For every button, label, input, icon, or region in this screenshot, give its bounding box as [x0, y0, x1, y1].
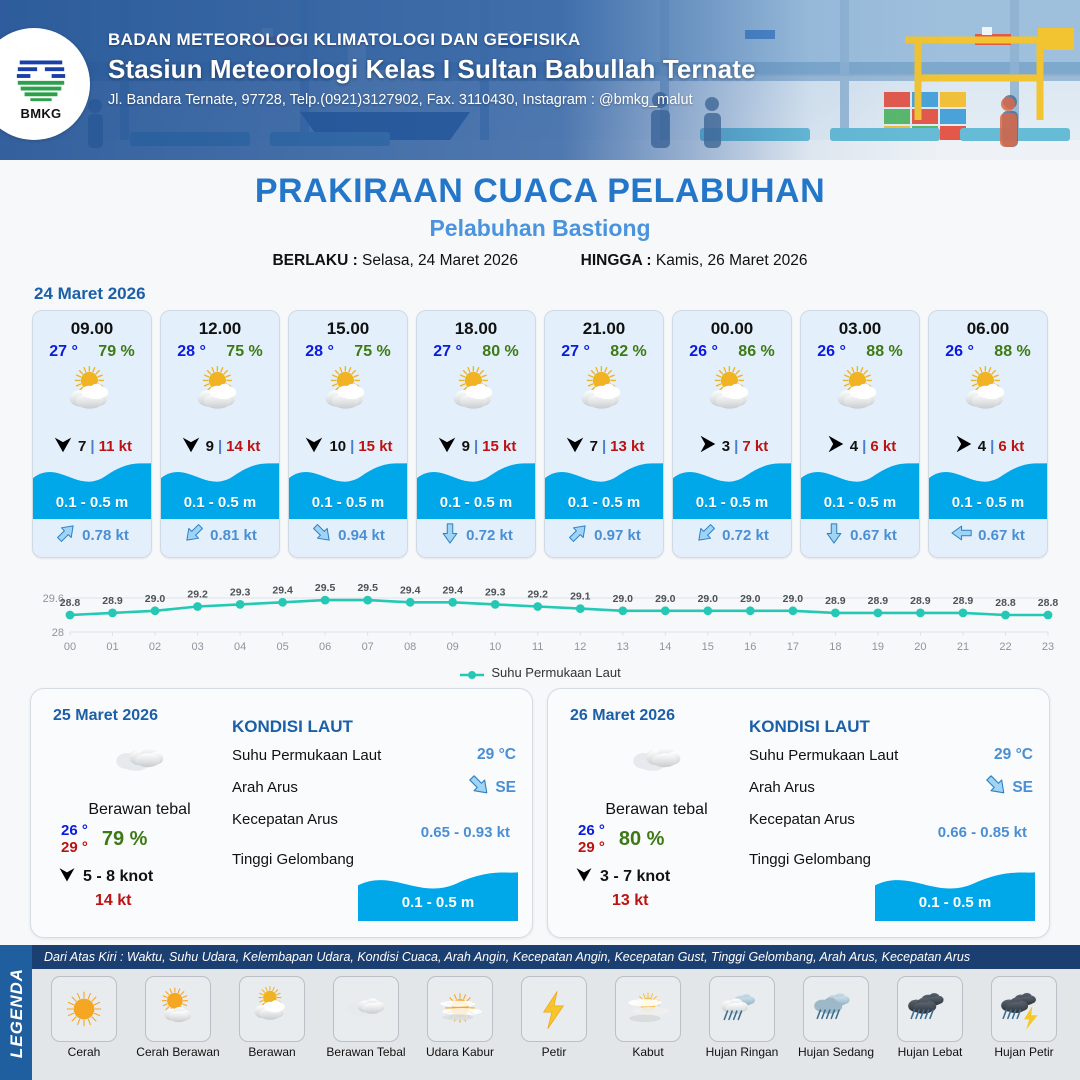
- legend-vertical-title: LEGENDA: [2, 945, 32, 1080]
- legend-item: Berawan Tebal: [322, 976, 410, 1059]
- forecast-card: 21.00 27 ° 82 % 7 |: [544, 310, 664, 558]
- forecast-card: 00.00 26 ° 86 % 3 |: [672, 310, 792, 558]
- sea-wave-row: Tinggi Gelombang: [749, 851, 1033, 868]
- sst-chart-svg: 29.62828.80028.90129.00229.20329.30429.4…: [22, 568, 1058, 663]
- sea-sst-row: Suhu Permukaan Laut 29 °C: [749, 746, 1033, 764]
- card-current: 0.67 kt: [929, 522, 1047, 549]
- svg-text:20: 20: [914, 641, 926, 653]
- card-wind-separator: |: [350, 438, 354, 455]
- card-weather-icon: [929, 364, 1047, 426]
- card-wind-speed: 4: [978, 438, 986, 455]
- legend-item: Cerah Berawan: [134, 976, 222, 1059]
- card-temp-humidity: 27 ° 80 %: [417, 343, 535, 361]
- card-humidity: 79 %: [98, 343, 134, 361]
- svg-text:07: 07: [362, 641, 374, 653]
- legend-icon-hujan-ringan-icon: [709, 976, 775, 1042]
- card-current-speed: 0.81 kt: [210, 527, 257, 544]
- sea-current-dir-row: Arah Arus SE: [749, 773, 1033, 802]
- daily-humidity: 80 %: [619, 828, 665, 851]
- legend-item: Cerah: [40, 976, 128, 1059]
- current-speed-value: 0.65 - 0.93 kt: [421, 824, 510, 841]
- card-time: 15.00: [289, 319, 407, 339]
- sea-conditions-heading: KONDISI LAUT: [232, 717, 516, 737]
- wave-height-label: Tinggi Gelombang: [749, 851, 871, 868]
- card-wind-speed: 9: [206, 438, 214, 455]
- daily-wave-graphic: 0.1 - 0.5 m: [358, 867, 518, 921]
- sst-value: 29 °C: [477, 746, 516, 764]
- svg-text:28.8: 28.8: [1038, 597, 1058, 609]
- forecast-card: 09.00 27 ° 79 % 7 |: [32, 310, 152, 558]
- sea-current-dir-row: Arah Arus SE: [232, 773, 516, 802]
- forecast-card: 12.00 28 ° 75 % 9 |: [160, 310, 280, 558]
- legend-item-label: Cerah: [68, 1045, 101, 1059]
- svg-text:03: 03: [191, 641, 203, 653]
- title-section: PRAKIRAAN CUACA PELABUHAN Pelabuhan Bast…: [0, 160, 1080, 270]
- current-direction-label: Arah Arus: [232, 779, 298, 796]
- svg-text:29.4: 29.4: [442, 584, 463, 596]
- svg-text:29.5: 29.5: [315, 582, 336, 594]
- daily-sea-column: KONDISI LAUT Suhu Permukaan Laut 29 °C A…: [743, 689, 1049, 937]
- svg-text:29.0: 29.0: [655, 593, 676, 605]
- card-wind-separator: |: [734, 438, 738, 455]
- legend-icon-cerah-berawan-icon: [145, 976, 211, 1042]
- current-speed-label: Kecepatan Arus: [232, 811, 338, 828]
- card-weather-icon: [161, 364, 279, 426]
- daily-wind-range: 3 - 7 knot: [600, 868, 670, 886]
- wind-direction-arrow-icon: [180, 433, 202, 460]
- svg-text:29.5: 29.5: [357, 582, 378, 594]
- card-weather-icon: [417, 364, 535, 426]
- station-contact: Jl. Bandara Ternate, 97728, Telp.(0921)3…: [108, 92, 756, 108]
- daily-temp-min: 26 °: [578, 822, 605, 839]
- card-current: 0.94 kt: [289, 522, 407, 549]
- wind-direction-arrow-icon: [52, 433, 74, 460]
- legend-icon-hujan-petir-icon: [991, 976, 1057, 1042]
- card-current-speed: 0.72 kt: [466, 527, 513, 544]
- svg-text:29.2: 29.2: [187, 589, 208, 601]
- card-wind: 4 | 6 kt: [929, 433, 1047, 459]
- wind-direction-arrow-icon: [952, 433, 974, 460]
- card-time: 12.00: [161, 319, 279, 339]
- svg-text:13: 13: [617, 641, 629, 653]
- card-wind-speed: 3: [722, 438, 730, 455]
- svg-text:29.0: 29.0: [698, 593, 719, 605]
- card-humidity: 75 %: [226, 343, 262, 361]
- legend-item: Udara Kabur: [416, 976, 504, 1059]
- svg-text:28.8: 28.8: [60, 597, 81, 609]
- card-wave-height: 0.1 - 0.5 m: [33, 494, 151, 511]
- card-wind-separator: |: [90, 438, 94, 455]
- daily-date: 25 Maret 2026: [53, 707, 226, 725]
- daily-weather-icon: [53, 731, 226, 791]
- card-wave-height: 0.1 - 0.5 m: [929, 494, 1047, 511]
- legend-item: Hujan Sedang: [792, 976, 880, 1059]
- card-current: 0.67 kt: [801, 522, 919, 549]
- card-current-speed: 0.67 kt: [978, 527, 1025, 544]
- valid-from-value: Selasa, 24 Maret 2026: [362, 252, 518, 269]
- wind-direction-arrow-icon: [564, 433, 586, 460]
- sst-chart: 29.62828.80028.90129.00229.20329.30429.4…: [22, 568, 1058, 663]
- svg-text:29.2: 29.2: [527, 589, 548, 601]
- legend-icon-hujan-sedang-icon: [803, 976, 869, 1042]
- legend-icon-udara-kabur-icon: [427, 976, 493, 1042]
- daily-date: 26 Maret 2026: [570, 707, 743, 725]
- daily-wave-value: 0.1 - 0.5 m: [875, 894, 1035, 911]
- legend-item: Berawan: [228, 976, 316, 1059]
- forecast-card: 18.00 27 ° 80 % 9 |: [416, 310, 536, 558]
- card-time: 21.00: [545, 319, 663, 339]
- daily-weather-icon: [570, 731, 743, 791]
- svg-text:29.3: 29.3: [485, 586, 506, 598]
- wind-direction-arrow-icon: [824, 433, 846, 460]
- svg-text:00: 00: [64, 641, 76, 653]
- current-direction-arrow-icon: [567, 522, 589, 549]
- svg-text:29.0: 29.0: [145, 593, 166, 605]
- svg-text:14: 14: [659, 641, 671, 653]
- card-gust-speed: 15 kt: [358, 438, 392, 455]
- daily-gust: 13 kt: [570, 892, 743, 910]
- daily-condition: Berawan tebal: [570, 801, 743, 819]
- sst-legend-marker: [459, 668, 485, 678]
- card-gust-speed: 13 kt: [610, 438, 644, 455]
- svg-text:11: 11: [532, 641, 543, 653]
- card-wind-speed: 10: [329, 438, 346, 455]
- forecast-card: 06.00 26 ° 88 % 4 |: [928, 310, 1048, 558]
- svg-text:12: 12: [574, 641, 586, 653]
- card-temperature: 28 °: [305, 343, 334, 361]
- card-humidity: 88 %: [994, 343, 1030, 361]
- svg-text:16: 16: [744, 641, 756, 653]
- legend-item-label: Udara Kabur: [426, 1045, 494, 1059]
- card-humidity: 75 %: [354, 343, 390, 361]
- card-gust-speed: 6 kt: [998, 438, 1024, 455]
- card-wind-speed: 7: [590, 438, 598, 455]
- card-wind-separator: |: [990, 438, 994, 455]
- current-direction-value-group: SE: [984, 773, 1033, 802]
- wave-height-label: Tinggi Gelombang: [232, 851, 354, 868]
- card-current: 0.72 kt: [417, 522, 535, 549]
- card-temp-humidity: 26 ° 86 %: [673, 343, 791, 361]
- card-temperature: 28 °: [177, 343, 206, 361]
- sea-conditions-heading: KONDISI LAUT: [749, 717, 1033, 737]
- svg-text:29.0: 29.0: [740, 593, 761, 605]
- sst-legend-label: Suhu Permukaan Laut: [491, 665, 620, 680]
- daily-left-column: 25 Maret 2026 Berawan tebal 26 °: [31, 689, 226, 937]
- daily-temp-max: 29 °: [61, 839, 88, 856]
- card-wave-height: 0.1 - 0.5 m: [161, 494, 279, 511]
- wind-direction-arrow-icon: [436, 433, 458, 460]
- svg-text:29.4: 29.4: [400, 584, 421, 596]
- daily-sea-column: KONDISI LAUT Suhu Permukaan Laut 29 °C A…: [226, 689, 532, 937]
- current-direction-arrow-icon: [183, 522, 205, 549]
- card-temp-humidity: 26 ° 88 %: [801, 343, 919, 361]
- current-direction-arrow-icon: [823, 522, 845, 549]
- daily-wave-graphic: 0.1 - 0.5 m: [875, 867, 1035, 921]
- card-wind: 7 | 13 kt: [545, 433, 663, 459]
- forecast-date-label: 24 Maret 2026: [34, 284, 1080, 304]
- card-wave-height: 0.1 - 0.5 m: [417, 494, 535, 511]
- card-weather-icon: [33, 364, 151, 426]
- card-humidity: 82 %: [610, 343, 646, 361]
- daily-wind: 3 - 7 knot: [570, 864, 743, 889]
- svg-text:28.9: 28.9: [953, 595, 974, 607]
- card-wave-height: 0.1 - 0.5 m: [801, 494, 919, 511]
- legend-icon-kabut-icon: [615, 976, 681, 1042]
- valid-until-value: Kamis, 26 Maret 2026: [656, 252, 808, 269]
- page-title: PRAKIRAAN CUACA PELABUHAN: [0, 172, 1080, 211]
- svg-text:28.9: 28.9: [825, 595, 846, 607]
- validity-range: BERLAKU : Selasa, 24 Maret 2026 HINGGA :…: [0, 252, 1080, 270]
- card-wave-height: 0.1 - 0.5 m: [673, 494, 791, 511]
- svg-text:09: 09: [447, 641, 459, 653]
- daily-temp-min: 26 °: [61, 822, 88, 839]
- card-temperature: 26 °: [817, 343, 846, 361]
- card-gust-speed: 14 kt: [226, 438, 260, 455]
- card-humidity: 86 %: [738, 343, 774, 361]
- svg-text:05: 05: [276, 641, 288, 653]
- card-weather-icon: [545, 364, 663, 426]
- daily-summary-row: 25 Maret 2026 Berawan tebal 26 °: [0, 688, 1080, 938]
- current-direction-label: Arah Arus: [749, 779, 815, 796]
- legend-icon-hujan-lebat-icon: [897, 976, 963, 1042]
- card-temperature: 27 °: [561, 343, 590, 361]
- legend-item: Hujan Petir: [980, 976, 1068, 1059]
- card-current-speed: 0.94 kt: [338, 527, 385, 544]
- wind-direction-arrow-icon: [303, 433, 325, 460]
- card-wave-height: 0.1 - 0.5 m: [289, 494, 407, 511]
- legend-bar: LEGENDA Dari Atas Kiri : Waktu, Suhu Uda…: [0, 945, 1080, 1080]
- forecast-card: 03.00 26 ° 88 % 4 |: [800, 310, 920, 558]
- card-current-speed: 0.97 kt: [594, 527, 641, 544]
- daily-left-column: 26 Maret 2026 Berawan tebal 26 °: [548, 689, 743, 937]
- daily-humidity: 79 %: [102, 828, 148, 851]
- page-header: BMKG BADAN METEOROLOGI KLIMATOLOGI DAN G…: [0, 0, 1080, 160]
- card-temp-humidity: 27 ° 79 %: [33, 343, 151, 361]
- daily-wind: 5 - 8 knot: [53, 864, 226, 889]
- card-wind: 3 | 7 kt: [673, 433, 791, 459]
- card-current-speed: 0.72 kt: [722, 527, 769, 544]
- current-speed-value: 0.66 - 0.85 kt: [938, 824, 1027, 841]
- card-temperature: 26 °: [945, 343, 974, 361]
- card-wind-speed: 7: [78, 438, 86, 455]
- current-direction-arrow-icon: [439, 522, 461, 549]
- card-time: 06.00: [929, 319, 1047, 339]
- card-current-speed: 0.67 kt: [850, 527, 897, 544]
- hourly-forecast-row: 09.00 27 ° 79 % 7 |: [0, 310, 1080, 558]
- current-direction-value: SE: [1012, 779, 1033, 797]
- header-text-block: BADAN METEOROLOGI KLIMATOLOGI DAN GEOFIS…: [108, 30, 756, 108]
- card-temperature: 26 °: [689, 343, 718, 361]
- daily-temp-col: 26 ° 29 °: [578, 822, 605, 856]
- svg-text:28.8: 28.8: [995, 597, 1016, 609]
- svg-text:04: 04: [234, 641, 246, 653]
- legend-item: Petir: [510, 976, 598, 1059]
- card-weather-icon: [801, 364, 919, 426]
- card-time: 00.00: [673, 319, 791, 339]
- card-wind-separator: |: [474, 438, 478, 455]
- legend-item-label: Petir: [542, 1045, 567, 1059]
- bmkg-logo-text: BMKG: [21, 106, 62, 121]
- svg-text:29.3: 29.3: [230, 586, 251, 598]
- daily-temp-humidity: 26 ° 29 ° 80 %: [570, 822, 743, 856]
- daily-summary-panel: 26 Maret 2026 Berawan tebal 26 °: [547, 688, 1050, 938]
- daily-temp-col: 26 ° 29 °: [61, 822, 88, 856]
- legend-item-label: Berawan Tebal: [326, 1045, 405, 1059]
- card-temp-humidity: 26 ° 88 %: [929, 343, 1047, 361]
- card-wind: 9 | 15 kt: [417, 433, 535, 459]
- card-humidity: 88 %: [866, 343, 902, 361]
- page-subtitle: Pelabuhan Bastiong: [0, 215, 1080, 242]
- card-temperature: 27 °: [433, 343, 462, 361]
- card-wind: 9 | 14 kt: [161, 433, 279, 459]
- current-direction-value: SE: [495, 779, 516, 797]
- current-direction-arrow-icon: [951, 522, 973, 549]
- legend-item-label: Hujan Lebat: [898, 1045, 963, 1059]
- sst-label: Suhu Permukaan Laut: [232, 747, 381, 764]
- card-current: 0.72 kt: [673, 522, 791, 549]
- legend-note: Dari Atas Kiri : Waktu, Suhu Udara, Kele…: [32, 945, 1080, 969]
- svg-text:01: 01: [106, 641, 118, 653]
- card-current-speed: 0.78 kt: [82, 527, 129, 544]
- legend-item-label: Cerah Berawan: [136, 1045, 219, 1059]
- daily-wind-range: 5 - 8 knot: [83, 868, 153, 886]
- daily-temp-max: 29 °: [578, 839, 605, 856]
- svg-text:10: 10: [489, 641, 501, 653]
- svg-text:21: 21: [957, 641, 969, 653]
- svg-text:29.0: 29.0: [783, 593, 804, 605]
- legend-icon-berawan-tebal-icon: [333, 976, 399, 1042]
- current-direction-arrow-icon: [695, 522, 717, 549]
- legend-item-label: Hujan Petir: [994, 1045, 1053, 1059]
- card-wind-separator: |: [218, 438, 222, 455]
- legend-item-label: Hujan Sedang: [798, 1045, 874, 1059]
- valid-from-label: BERLAKU :: [272, 252, 357, 269]
- daily-wind-direction-arrow-icon: [57, 864, 77, 889]
- svg-text:19: 19: [872, 641, 884, 653]
- legend-item: Kabut: [604, 976, 692, 1059]
- legend-item: Hujan Ringan: [698, 976, 786, 1059]
- svg-text:28.9: 28.9: [868, 595, 889, 607]
- card-wave-height: 0.1 - 0.5 m: [545, 494, 663, 511]
- daily-current-direction-arrow-icon: [467, 773, 491, 802]
- daily-condition: Berawan tebal: [53, 801, 226, 819]
- sea-wave-row: Tinggi Gelombang: [232, 851, 516, 868]
- valid-until-label: HINGGA :: [581, 252, 652, 269]
- svg-text:28.9: 28.9: [102, 595, 123, 607]
- svg-text:18: 18: [829, 641, 841, 653]
- legend-item-label: Berawan: [248, 1045, 295, 1059]
- svg-text:22: 22: [999, 641, 1011, 653]
- current-direction-arrow-icon: [55, 522, 77, 549]
- svg-text:28.9: 28.9: [910, 595, 931, 607]
- card-time: 18.00: [417, 319, 535, 339]
- current-direction-value-group: SE: [467, 773, 516, 802]
- svg-text:23: 23: [1042, 641, 1054, 653]
- station-name: Stasiun Meteorologi Kelas I Sultan Babul…: [108, 54, 756, 85]
- card-humidity: 80 %: [482, 343, 518, 361]
- legend-item-label: Hujan Ringan: [706, 1045, 779, 1059]
- legend-item-label: Kabut: [632, 1045, 663, 1059]
- card-temp-humidity: 27 ° 82 %: [545, 343, 663, 361]
- current-direction-arrow-icon: [311, 522, 333, 549]
- legend-icon-berawan-icon: [239, 976, 305, 1042]
- card-time: 09.00: [33, 319, 151, 339]
- svg-text:29.4: 29.4: [272, 584, 293, 596]
- card-temp-humidity: 28 ° 75 %: [161, 343, 279, 361]
- card-weather-icon: [289, 364, 407, 426]
- chart-legend: Suhu Permukaan Laut: [0, 665, 1080, 680]
- card-time: 03.00: [801, 319, 919, 339]
- card-temp-humidity: 28 ° 75 %: [289, 343, 407, 361]
- bmkg-logo-icon: [12, 47, 70, 105]
- card-temperature: 27 °: [49, 343, 78, 361]
- svg-text:15: 15: [702, 641, 714, 653]
- svg-text:28: 28: [52, 627, 64, 639]
- daily-summary-panel: 25 Maret 2026 Berawan tebal 26 °: [30, 688, 533, 938]
- card-wind-separator: |: [862, 438, 866, 455]
- sea-sst-row: Suhu Permukaan Laut 29 °C: [232, 746, 516, 764]
- current-speed-label: Kecepatan Arus: [749, 811, 855, 828]
- card-wind-speed: 4: [850, 438, 858, 455]
- legend-panel: Dari Atas Kiri : Waktu, Suhu Udara, Kele…: [32, 945, 1080, 1080]
- card-current: 0.81 kt: [161, 522, 279, 549]
- daily-current-direction-arrow-icon: [984, 773, 1008, 802]
- card-current: 0.78 kt: [33, 522, 151, 549]
- svg-text:02: 02: [149, 641, 161, 653]
- card-gust-speed: 7 kt: [742, 438, 768, 455]
- wind-direction-arrow-icon: [696, 433, 718, 460]
- card-gust-speed: 15 kt: [482, 438, 516, 455]
- bmkg-logo-mark: [12, 47, 70, 105]
- svg-text:17: 17: [787, 641, 799, 653]
- legend-icon-list: Cerah Cerah Berawan: [32, 969, 1080, 1059]
- card-wind: 7 | 11 kt: [33, 433, 151, 459]
- legend-item: Hujan Lebat: [886, 976, 974, 1059]
- card-gust-speed: 11 kt: [99, 438, 132, 455]
- daily-temp-humidity: 26 ° 29 ° 79 %: [53, 822, 226, 856]
- card-wind-speed: 9: [462, 438, 470, 455]
- svg-text:29.0: 29.0: [613, 593, 634, 605]
- agency-name: BADAN METEOROLOGI KLIMATOLOGI DAN GEOFIS…: [108, 30, 756, 50]
- legend-icon-cerah-icon: [51, 976, 117, 1042]
- svg-text:29.1: 29.1: [570, 591, 591, 603]
- daily-wind-direction-arrow-icon: [574, 864, 594, 889]
- legend-icon-petir-icon: [521, 976, 587, 1042]
- card-wind-separator: |: [602, 438, 606, 455]
- forecast-card: 15.00 28 ° 75 % 10 |: [288, 310, 408, 558]
- svg-text:06: 06: [319, 641, 331, 653]
- sst-label: Suhu Permukaan Laut: [749, 747, 898, 764]
- sst-value: 29 °C: [994, 746, 1033, 764]
- card-wind: 10 | 15 kt: [289, 433, 407, 459]
- daily-wave-value: 0.1 - 0.5 m: [358, 894, 518, 911]
- card-wind: 4 | 6 kt: [801, 433, 919, 459]
- card-gust-speed: 6 kt: [870, 438, 896, 455]
- daily-gust: 14 kt: [53, 892, 226, 910]
- card-weather-icon: [673, 364, 791, 426]
- svg-text:08: 08: [404, 641, 416, 653]
- card-current: 0.97 kt: [545, 522, 663, 549]
